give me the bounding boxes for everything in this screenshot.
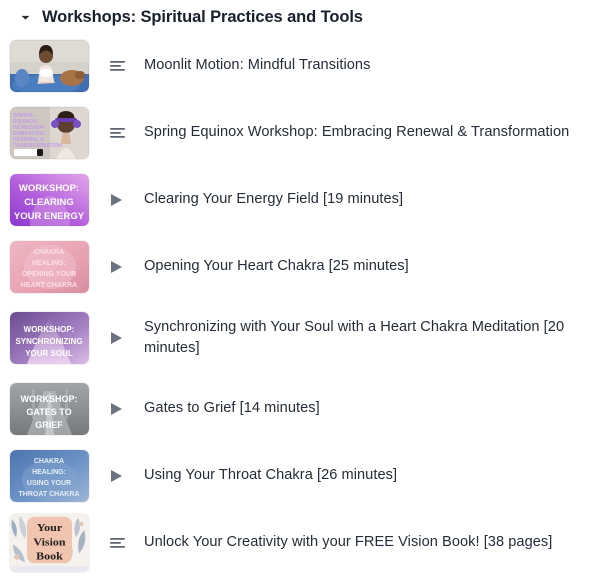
svg-text:CHAKRA: CHAKRA xyxy=(34,458,64,465)
svg-text:TRANSFORMATION: TRANSFORMATION xyxy=(13,143,62,149)
lesson-title: Moonlit Motion: Mindful Transitions xyxy=(144,55,370,76)
lesson-title: Clearing Your Energy Field [19 minutes] xyxy=(144,189,403,210)
lesson-title: Unlock Your Creativity with your FREE Vi… xyxy=(144,532,552,553)
lesson-thumbnail[interactable]: CHAKRA HEALING: USING YOUR THROAT CHAKRA xyxy=(10,450,89,502)
svg-text:GRIEF: GRIEF xyxy=(35,420,63,430)
svg-text:SYNCHRONIZING: SYNCHRONIZING xyxy=(15,337,82,346)
lesson-title: Synchronizing with Your Soul with a Hear… xyxy=(144,317,574,359)
svg-text:HEART CHAKRA: HEART CHAKRA xyxy=(21,282,77,289)
lesson-list: Moonlit Motion: Mindful Transitions xyxy=(0,32,600,576)
lesson-thumbnail[interactable]: WORKSHOP: CLEARING YOUR ENERGY xyxy=(10,174,89,226)
lesson-thumbnail[interactable] xyxy=(10,40,89,92)
thumbnail-image-synchronizing-soul: WORKSHOP: SYNCHRONIZING YOUR SOUL xyxy=(10,312,89,364)
play-icon xyxy=(110,331,134,345)
lesson-title: Opening Your Heart Chakra [25 minutes] xyxy=(144,256,409,277)
svg-text:WORKSHOP:: WORKSHOP: xyxy=(21,394,78,404)
list-item[interactable]: Moonlit Motion: Mindful Transitions xyxy=(0,32,600,99)
svg-text:OPENING YOUR: OPENING YOUR xyxy=(22,271,76,278)
play-icon xyxy=(110,402,134,416)
svg-text:WORKSHOP:: WORKSHOP: xyxy=(19,183,79,194)
list-item[interactable]: WORKSHOP: SYNCHRONIZING YOUR SOUL Synchr… xyxy=(0,300,600,375)
svg-text:YOUR ENERGY: YOUR ENERGY xyxy=(14,211,85,222)
play-icon xyxy=(110,193,134,207)
lesson-thumbnail[interactable]: SPRING EQUINOX WORKSHOP: EMBRACING RENEW… xyxy=(10,107,89,159)
svg-text:USING YOUR: USING YOUR xyxy=(27,480,71,487)
lesson-thumbnail[interactable]: WORKSHOP: SYNCHRONIZING YOUR SOUL xyxy=(10,312,89,364)
list-item[interactable]: CHAKRA HEALING: USING YOUR THROAT CHAKRA… xyxy=(0,442,600,509)
svg-text:CHAKRA: CHAKRA xyxy=(34,249,64,256)
thumbnail-image-vision-book: Your Vision Book xyxy=(10,514,89,572)
svg-text:Your: Your xyxy=(37,522,62,533)
thumbnail-image-heart-chakra: CHAKRA HEALING: OPENING YOUR HEART CHAKR… xyxy=(10,241,89,293)
list-item[interactable]: CHAKRA HEALING: OPENING YOUR HEART CHAKR… xyxy=(0,233,600,300)
play-icon xyxy=(110,469,134,483)
thumbnail-image-moonlit-motion xyxy=(10,40,89,92)
svg-text:CLEARING: CLEARING xyxy=(24,197,74,208)
lesson-title: Spring Equinox Workshop: Embracing Renew… xyxy=(144,122,569,143)
svg-text:THROAT CHAKRA: THROAT CHAKRA xyxy=(19,491,80,498)
list-item[interactable]: WORKSHOP: GATES TO GRIEF Gates to Grief … xyxy=(0,375,600,442)
text-lesson-icon xyxy=(110,59,134,72)
text-lesson-icon xyxy=(110,126,134,139)
section-title: Workshops: Spiritual Practices and Tools xyxy=(42,8,363,27)
svg-text:Book: Book xyxy=(36,551,63,562)
svg-text:Vision: Vision xyxy=(33,536,66,547)
lesson-thumbnail[interactable]: WORKSHOP: GATES TO GRIEF xyxy=(10,383,89,435)
play-icon xyxy=(110,260,134,274)
thumbnail-image-gates-to-grief: WORKSHOP: GATES TO GRIEF xyxy=(10,383,89,435)
svg-text:GATES TO: GATES TO xyxy=(26,407,71,417)
thumbnail-image-spring-equinox: SPRING EQUINOX WORKSHOP: EMBRACING RENEW… xyxy=(10,107,89,159)
thumbnail-image-throat-chakra: CHAKRA HEALING: USING YOUR THROAT CHAKRA xyxy=(10,450,89,502)
list-item[interactable]: SPRING EQUINOX WORKSHOP: EMBRACING RENEW… xyxy=(0,99,600,166)
svg-text:WORKSHOP:: WORKSHOP: xyxy=(24,325,75,334)
course-section-panel: Workshops: Spiritual Practices and Tools xyxy=(0,0,600,576)
caret-down-icon[interactable] xyxy=(18,10,32,24)
list-item[interactable]: Your Vision Book Unlock Your Creativity … xyxy=(0,509,600,576)
svg-text:HEALING:: HEALING: xyxy=(32,260,66,267)
thumbnail-image-clearing-energy: WORKSHOP: CLEARING YOUR ENERGY xyxy=(10,174,89,226)
lesson-thumbnail[interactable]: CHAKRA HEALING: OPENING YOUR HEART CHAKR… xyxy=(10,241,89,293)
lesson-thumbnail[interactable]: Your Vision Book xyxy=(10,514,89,572)
lesson-title: Gates to Grief [14 minutes] xyxy=(144,398,320,419)
lesson-title: Using Your Throat Chakra [26 minutes] xyxy=(144,465,397,486)
text-lesson-icon xyxy=(110,536,134,549)
section-header[interactable]: Workshops: Spiritual Practices and Tools xyxy=(0,0,600,32)
list-item[interactable]: WORKSHOP: CLEARING YOUR ENERGY Clearing … xyxy=(0,166,600,233)
svg-text:HEALING:: HEALING: xyxy=(32,469,66,476)
svg-text:YOUR SOUL: YOUR SOUL xyxy=(25,349,73,358)
